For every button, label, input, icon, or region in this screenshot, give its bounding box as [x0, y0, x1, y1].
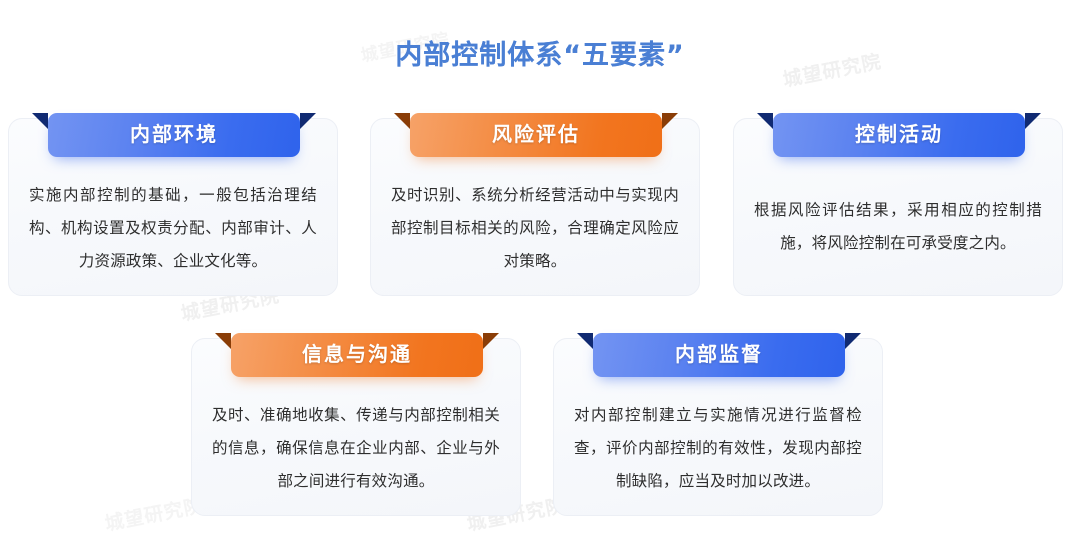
card-title-label: 内部监督: [675, 344, 763, 364]
card-body-text: 实施内部控制的基础，一般包括治理结构、机构设置及权责分配、内部审计、人力资源政策…: [29, 179, 317, 278]
card-title-label: 控制活动: [855, 124, 943, 144]
card-banner-information-communication[interactable]: 信息与沟通: [231, 333, 483, 377]
card-banner-risk-assessment[interactable]: 风险评估: [410, 113, 662, 157]
card-title-label: 风险评估: [492, 124, 580, 144]
card-title-label: 内部环境: [130, 124, 218, 144]
card-banner-internal-environment[interactable]: 内部环境: [48, 113, 300, 157]
card-body-text: 根据风险评估结果，采用相应的控制措施，将风险控制在可承受度之内。: [754, 194, 1042, 260]
card-title-label: 信息与沟通: [302, 344, 412, 364]
card-body-text: 及时、准确地收集、传递与内部控制相关的信息，确保信息在企业内部、企业与外部之间进…: [212, 399, 500, 498]
card-body-text: 对内部控制建立与实施情况进行监督检查，评价内部控制的有效性，发现内部控制缺陷，应…: [574, 399, 862, 498]
card-body-text: 及时识别、系统分析经营活动中与实现内部控制目标相关的风险，合理确定风险应对策略。: [391, 179, 679, 278]
card-banner-internal-supervision[interactable]: 内部监督: [593, 333, 845, 377]
page-title: 内部控制体系“五要素”: [0, 33, 1080, 72]
card-banner-control-activities[interactable]: 控制活动: [773, 113, 1025, 157]
